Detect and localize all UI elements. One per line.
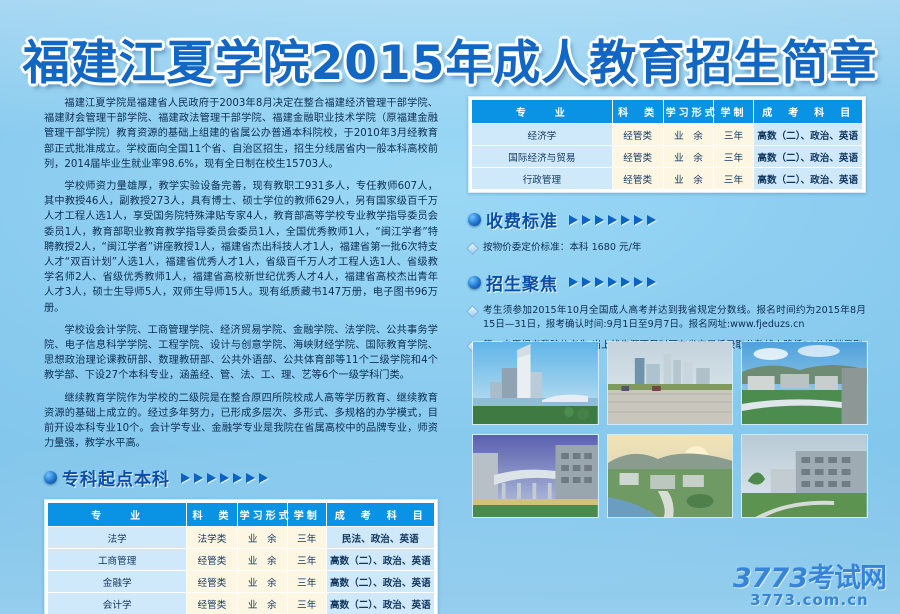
table-cell: 经管类 (187, 571, 237, 593)
section-title-zhuanke: 专科起点本科 (62, 465, 170, 490)
table-row: 行政管理经管类业 余三年高数（二）、政治、英语 (472, 168, 863, 190)
table-cell: 三年 (287, 593, 326, 614)
chevron-right-icon-group (569, 215, 656, 225)
table-cell: 业 余 (237, 527, 287, 549)
table-cell: 高数（二）、政治、英语 (326, 593, 434, 614)
column-header-major: 专 业 (472, 100, 613, 124)
chevron-right-icon (207, 473, 216, 483)
poster-canvas: 福建江夏学院2015年成人教育招生简章 福建江夏学院是福建省人民政府于2003年… (0, 0, 900, 614)
table-cell: 三年 (287, 549, 326, 571)
table-cell: 经管类 (187, 593, 237, 614)
campus-photo-tower-building (472, 341, 599, 425)
chevron-right-icon-group (181, 473, 268, 483)
intro-paragraph-1: 福建江夏学院是福建省人民政府于2003年8月决定在整合福建经济管理干部学院、福建… (44, 96, 438, 172)
majors-table-bottom-left-frame: 专 业 科 类 学习形式 学制 成 考 科 目 法学法学类业 余三年民法、政治、… (44, 499, 438, 614)
watermark-brand-cn: 考试网 (808, 563, 886, 594)
right-column: 专 业 科 类 学习形式 学制 成 考 科 目 经济学经管类业 余三年高数（二）… (468, 96, 866, 359)
chevron-right-icon (582, 215, 591, 225)
table-cell: 三年 (714, 124, 753, 146)
column-header-major: 专 业 (48, 503, 187, 527)
table-cell: 三年 (287, 527, 326, 549)
chevron-right-icon (595, 277, 604, 287)
watermark-domain: 3773.com.cn (733, 592, 886, 608)
campus-photo-aerial-hillside (741, 341, 868, 425)
table-header-row: 专 业 科 类 学习形式 学制 成 考 科 目 (48, 503, 435, 527)
diamond-bullet-icon (466, 242, 479, 255)
chevron-right-icon (246, 473, 255, 483)
table-cell: 业 余 (237, 571, 287, 593)
table-cell: 法学类 (187, 527, 237, 549)
column-header-duration: 学制 (287, 503, 326, 527)
campus-photo-corridor-dormitory (472, 434, 599, 518)
table-cell: 高数（二）、政治、英语 (326, 549, 434, 571)
diamond-bullet-icon (466, 305, 479, 318)
campus-photo-plaza-square (607, 341, 734, 425)
section-heading-focus: 招生聚焦 (468, 270, 866, 295)
table-cell: 金融学 (48, 571, 187, 593)
chevron-right-icon (181, 473, 190, 483)
column-header-study-form: 学习形式 (663, 100, 714, 124)
table-cell: 业 余 (237, 549, 287, 571)
table-row: 工商管理经管类业 余三年高数（二）、政治、英语 (48, 549, 435, 571)
section-heading-fee: 收费标准 (468, 207, 866, 232)
table-cell: 高数（二）、政治、英语 (326, 571, 434, 593)
intro-paragraph-2: 学校师资力量雄厚，教学实验设备完善，现有教职工931多人，专任教师607人，其中… (44, 179, 438, 316)
table-cell: 高数（二）、政治、英语 (753, 146, 863, 168)
table-cell: 三年 (287, 571, 326, 593)
chevron-right-icon (595, 215, 604, 225)
column-header-study-form: 学习形式 (237, 503, 287, 527)
table-cell: 民法、政治、英语 (326, 527, 434, 549)
chevron-right-icon (233, 473, 242, 483)
chevron-right-icon (259, 473, 268, 483)
chevron-right-icon (194, 473, 203, 483)
table-row: 金融学经管类业 余三年高数（二）、政治、英语 (48, 571, 435, 593)
intro-paragraph-4: 继续教育学院作为学校的二级院是在整合原四所院校成人高等学历教育、继续教育资源的基… (44, 391, 438, 452)
column-header-category: 科 类 (187, 503, 237, 527)
table-cell: 业 余 (237, 593, 287, 614)
chevron-right-icon (647, 215, 656, 225)
table-cell: 国际经济与贸易 (472, 146, 613, 168)
table-cell: 经管类 (612, 168, 663, 190)
table-row: 法学法学类业 余三年民法、政治、英语 (48, 527, 435, 549)
column-header-subjects: 成 考 科 目 (326, 503, 434, 527)
campus-photo-teaching-building (741, 434, 868, 518)
column-header-category: 科 类 (612, 100, 663, 124)
intro-paragraph-3: 学校设会计学院、工商管理学院、经济贸易学院、金融学院、法学院、公共事务学院、电子… (44, 323, 438, 384)
table-cell: 经管类 (612, 146, 663, 168)
chevron-right-icon (634, 277, 643, 287)
table-row: 经济学经管类业 余三年高数（二）、政治、英语 (472, 124, 863, 146)
fee-standard-text: 按物价委定价标准：本科 1680 元/年 (483, 241, 641, 256)
column-header-duration: 学制 (714, 100, 753, 124)
table-header-row: 专 业 科 类 学习形式 学制 成 考 科 目 (472, 100, 863, 124)
table-row: 国际经济与贸易经管类业 余三年高数（二）、政治、英语 (472, 146, 863, 168)
watermark-brand: 3773考试网 (733, 566, 886, 592)
page-title: 福建江夏学院2015年成人教育招生简章 (23, 24, 878, 93)
bullet-dot-icon (44, 471, 57, 484)
table-cell: 行政管理 (472, 168, 613, 190)
majors-table-top-right-frame: 专 业 科 类 学习形式 学制 成 考 科 目 经济学经管类业 余三年高数（二）… (468, 96, 866, 193)
chevron-right-icon (582, 277, 591, 287)
table-cell: 三年 (714, 168, 753, 190)
watermark-number: 3773 (733, 563, 808, 594)
table-cell: 业 余 (663, 146, 714, 168)
focus-text-exam-schedule: 考生须参加2015年10月全国成人高考并达到我省规定分数线。报名时间约为2015… (483, 304, 866, 333)
campus-photo-grid (472, 341, 868, 518)
chevron-right-icon (608, 277, 617, 287)
table-cell: 经管类 (187, 549, 237, 571)
table-cell: 三年 (714, 146, 753, 168)
majors-table-bottom-left: 专 业 科 类 学习形式 学制 成 考 科 目 法学法学类业 余三年民法、政治、… (47, 502, 435, 614)
campus-photo-sunset-overview (607, 434, 734, 518)
table-cell: 业 余 (663, 168, 714, 190)
chevron-right-icon (621, 215, 630, 225)
bullet-dot-icon (468, 276, 481, 289)
table-cell: 法学 (48, 527, 187, 549)
chevron-right-icon (220, 473, 229, 483)
chevron-right-icon (608, 215, 617, 225)
table-cell: 高数（二）、政治、英语 (753, 124, 863, 146)
table-cell: 经管类 (612, 124, 663, 146)
chevron-right-icon (647, 277, 656, 287)
poster-title-bar: 福建江夏学院2015年成人教育招生简章 (0, 24, 900, 93)
section-title-focus: 招生聚焦 (486, 270, 558, 295)
majors-table-top-right: 专 业 科 类 学习形式 学制 成 考 科 目 经济学经管类业 余三年高数（二）… (471, 99, 863, 190)
table-row: 会计学经管类业 余三年高数（二）、政治、英语 (48, 593, 435, 614)
table-cell: 会计学 (48, 593, 187, 614)
list-item: 按物价委定价标准：本科 1680 元/年 (468, 241, 866, 256)
table-cell: 经济学 (472, 124, 613, 146)
bullet-dot-icon (468, 213, 481, 226)
chevron-right-icon (634, 215, 643, 225)
column-header-subjects: 成 考 科 目 (753, 100, 863, 124)
left-column: 福建江夏学院是福建省人民政府于2003年8月决定在整合福建经济管理干部学院、福建… (44, 96, 438, 614)
section-heading-zhuanke: 专科起点本科 (44, 465, 438, 490)
table-cell: 工商管理 (48, 549, 187, 571)
section-title-fee: 收费标准 (486, 207, 558, 232)
table-cell: 高数（二）、政治、英语 (753, 168, 863, 190)
table-cell: 业 余 (663, 124, 714, 146)
chevron-right-icon (569, 277, 578, 287)
chevron-right-icon-group (569, 277, 656, 287)
list-item: 考生须参加2015年10月全国成人高考并达到我省规定分数线。报名时间约为2015… (468, 304, 866, 333)
site-watermark: 3773考试网 3773.com.cn (733, 566, 886, 608)
chevron-right-icon (621, 277, 630, 287)
chevron-right-icon (569, 215, 578, 225)
fee-list: 按物价委定价标准：本科 1680 元/年 (468, 241, 866, 256)
